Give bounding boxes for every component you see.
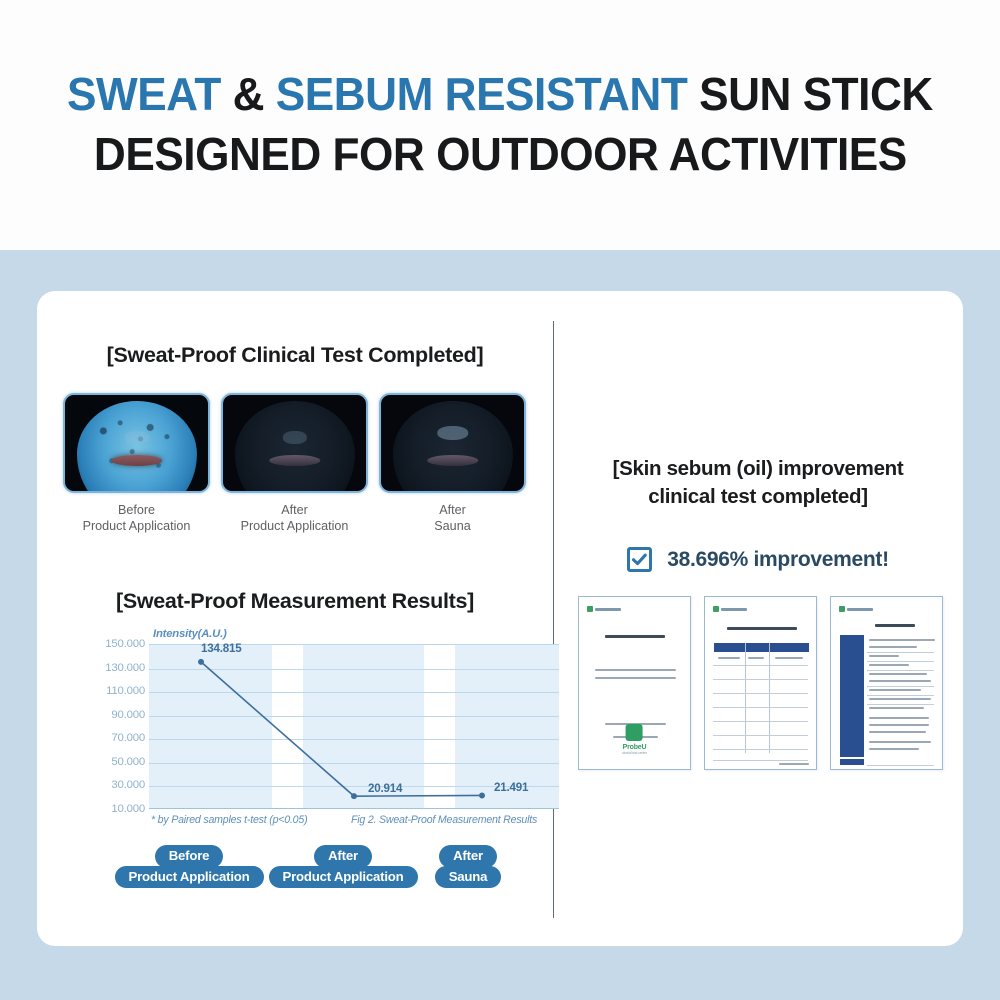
page-root: SWEAT & SEBUM RESISTANT SUN STICK DESIGN…	[0, 0, 1000, 1000]
caption-line-2: Product Application	[63, 518, 210, 534]
face-region	[76, 401, 196, 493]
face-region	[392, 401, 512, 493]
photo-before-product-application	[63, 393, 210, 493]
chart-y-tick-label: 150.000	[87, 638, 145, 650]
sweat-proof-chart: Intensity(A.U.) 150.000130.000110.00090.…	[89, 628, 559, 838]
photo-cell-before: Before Product Application	[63, 393, 210, 534]
chart-y-tick-label: 90.000	[87, 709, 145, 721]
chart-footnote-right: Fig 2. Sweat-Proof Measurement Results	[351, 814, 537, 826]
caption-line-1: After	[221, 502, 368, 518]
header-banner: SWEAT & SEBUM RESISTANT SUN STICK DESIGN…	[0, 0, 1000, 250]
probe-logo-icon	[839, 606, 873, 612]
pill-group-before: Before Product Application	[101, 845, 277, 888]
sebum-test-title: [Skin sebum (oil) improvement clinical t…	[553, 455, 963, 511]
sebum-title-line-2: clinical test completed]	[553, 483, 963, 511]
chart-y-tick-label: 70.000	[87, 732, 145, 744]
caption-line-2: Product Application	[221, 518, 368, 534]
chart-y-tick-label: 130.000	[87, 662, 145, 674]
chart-y-tick-label: 10.000	[87, 803, 145, 815]
probe-logo-icon	[713, 606, 747, 612]
clinical-test-title: [Sweat-Proof Clinical Test Completed]	[37, 343, 553, 368]
sebum-title-line-1: [Skin sebum (oil) improvement	[553, 455, 963, 483]
pill-group-after-product: After Product Application	[255, 845, 431, 888]
table-header-bar	[714, 643, 809, 652]
caption-line-1: Before	[63, 502, 210, 518]
chart-data-label-0: 134.815	[201, 642, 242, 655]
right-panel: [Skin sebum (oil) improvement clinical t…	[553, 291, 963, 946]
headline-line-2: DESIGNED FOR OUTDOOR ACTIVITIES	[94, 125, 907, 185]
chart-y-tick-label: 110.000	[87, 685, 145, 697]
probe-brand-tagline: clinical trial center	[622, 751, 647, 755]
chart-y-tick-label: 50.000	[87, 756, 145, 768]
pill-group-after-sauna: After Sauna	[413, 845, 523, 888]
lips-region	[269, 455, 320, 467]
measurement-results-title: [Sweat-Proof Measurement Results]	[37, 589, 553, 614]
pill-after-product-top[interactable]: After	[314, 845, 372, 868]
clinical-document-thumbnails: ProbeU clinical trial center	[578, 596, 943, 770]
pill-before-top[interactable]: Before	[155, 845, 224, 868]
headline-blue-sweat: SWEAT	[67, 68, 221, 120]
headline-ampersand: &	[221, 68, 276, 120]
chart-data-label-1: 20.914	[368, 782, 402, 795]
face-region	[234, 401, 354, 493]
overview-sidebar-column	[840, 635, 864, 757]
doc-thumb-study-overview[interactable]	[830, 596, 943, 770]
pill-after-sauna-top[interactable]: After	[439, 845, 497, 868]
chart-y-tick-column: 150.000130.000110.00090.00070.00050.0003…	[89, 644, 145, 809]
check-icon	[627, 547, 652, 572]
chart-data-point-0	[198, 659, 204, 665]
improvement-percentage-text: 38.696% improvement!	[667, 548, 889, 572]
probe-brand-name: ProbeU	[622, 744, 647, 751]
chart-y-tick-label: 30.000	[87, 779, 145, 791]
probe-brand-logo: ProbeU clinical trial center	[622, 724, 647, 755]
photo-caption-before: Before Product Application	[63, 502, 210, 534]
probe-mark-icon	[626, 724, 643, 741]
lips-region	[427, 455, 478, 467]
headline-line-1: SWEAT & SEBUM RESISTANT SUN STICK	[67, 65, 933, 125]
probe-logo-icon	[587, 606, 621, 612]
pill-after-sauna-bottom[interactable]: Sauna	[435, 866, 502, 889]
caption-line-1: After	[379, 502, 526, 518]
chart-data-point-2	[479, 792, 485, 798]
lips-region	[111, 455, 162, 467]
photo-after-sauna	[379, 393, 526, 493]
chart-footnote-left: * by Paired samples t-test (p<0.05)	[151, 814, 307, 826]
chart-y-axis-label: Intensity(A.U.)	[153, 628, 227, 640]
chart-category-pill-row: Before Product Application After Product…	[37, 845, 553, 887]
headline-black-sun-stick: SUN STICK	[687, 68, 932, 120]
headline-blue-sebum-resistant: SEBUM RESISTANT	[276, 68, 688, 120]
pill-before-bottom[interactable]: Product Application	[115, 866, 264, 889]
caption-line-2: Sauna	[379, 518, 526, 534]
chart-data-label-2: 21.491	[494, 781, 528, 794]
clinical-photo-row: Before Product Application After Product…	[63, 393, 527, 534]
chart-data-point-1	[351, 793, 357, 799]
doc-thumb-report-cover[interactable]: ProbeU clinical trial center	[578, 596, 691, 770]
improvement-row: 38.696% improvement!	[553, 547, 963, 572]
doc-thumb-results-table[interactable]	[704, 596, 817, 770]
photo-caption-after-product: After Product Application	[221, 502, 368, 534]
photo-cell-after-product: After Product Application	[221, 393, 368, 534]
photo-cell-after-sauna: After Sauna	[379, 393, 526, 534]
pill-after-product-bottom[interactable]: Product Application	[269, 866, 418, 889]
photo-caption-after-sauna: After Sauna	[379, 502, 526, 534]
photo-after-product-application	[221, 393, 368, 493]
